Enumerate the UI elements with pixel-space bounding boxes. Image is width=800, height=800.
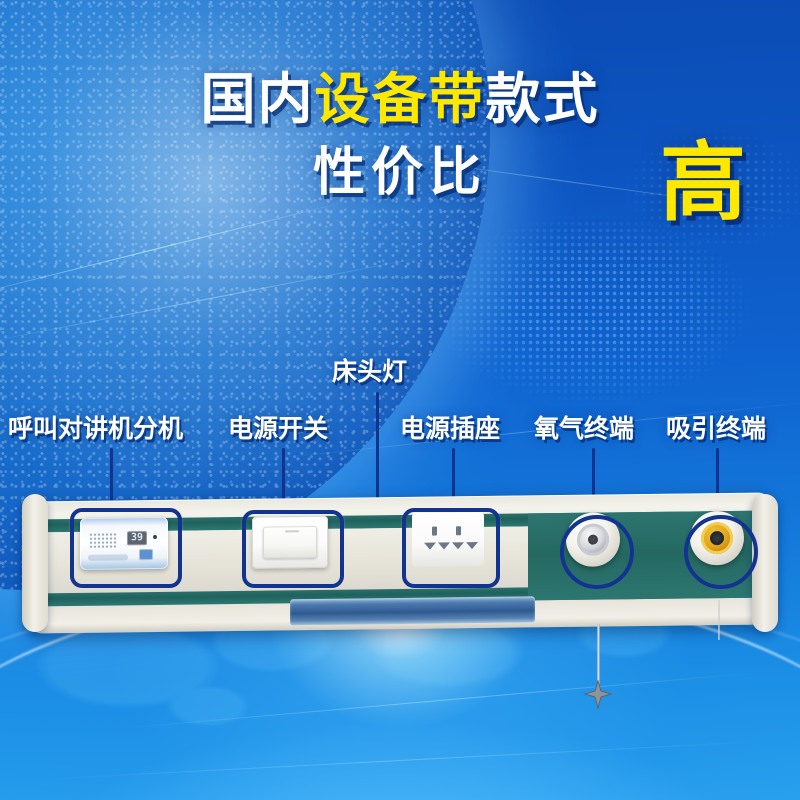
highlight-circle-suction bbox=[684, 515, 758, 589]
callout-power-socket: 电源插座 bbox=[400, 417, 500, 442]
callout-bed-lamp: 床头灯 bbox=[332, 360, 407, 385]
headline-part-1: 国内 bbox=[200, 68, 314, 130]
light-streak bbox=[40, 741, 759, 780]
callout-label: 呼叫对讲机分机 bbox=[8, 415, 183, 443]
callout-label: 电源插座 bbox=[400, 415, 500, 443]
headline-line-1: 国内设备带款式 bbox=[0, 72, 800, 127]
highlight-box-power-socket bbox=[402, 508, 500, 588]
headline-emphasis-char: 高 bbox=[660, 140, 746, 226]
callout-label: 床头灯 bbox=[332, 358, 407, 386]
callout-label: 氧气终端 bbox=[534, 415, 634, 443]
unit-end-cap-left bbox=[22, 494, 48, 632]
highlight-circle-oxygen bbox=[560, 515, 634, 589]
bed-lamp-diffuser[interactable] bbox=[290, 596, 535, 625]
headline-part-2: 设备带 bbox=[314, 68, 485, 130]
callout-power-switch: 电源开关 bbox=[228, 417, 328, 442]
light-streak bbox=[0, 199, 354, 302]
callout-oxygen: 氧气终端 bbox=[534, 417, 634, 442]
headline-part-3: 款式 bbox=[486, 68, 600, 130]
highlight-box-intercom bbox=[70, 508, 182, 588]
callout-label: 吸引终端 bbox=[666, 415, 766, 443]
pull-cord-secondary bbox=[718, 600, 720, 640]
pull-cord[interactable] bbox=[597, 624, 600, 686]
light-streak bbox=[121, 672, 759, 729]
light-streak bbox=[0, 254, 436, 347]
pull-cord-handle[interactable] bbox=[583, 680, 613, 710]
callout-intercom: 呼叫对讲机分机 bbox=[8, 417, 183, 442]
highlight-box-power-switch bbox=[242, 510, 344, 588]
callout-suction: 吸引终端 bbox=[666, 417, 766, 442]
continent-silhouettes bbox=[0, 610, 800, 800]
callout-label: 电源开关 bbox=[228, 415, 328, 443]
promo-banner: 国内设备带款式 性价比 高 呼叫对讲机分机 电源开关 床头灯 电源插座 氧气终端… bbox=[0, 0, 800, 800]
